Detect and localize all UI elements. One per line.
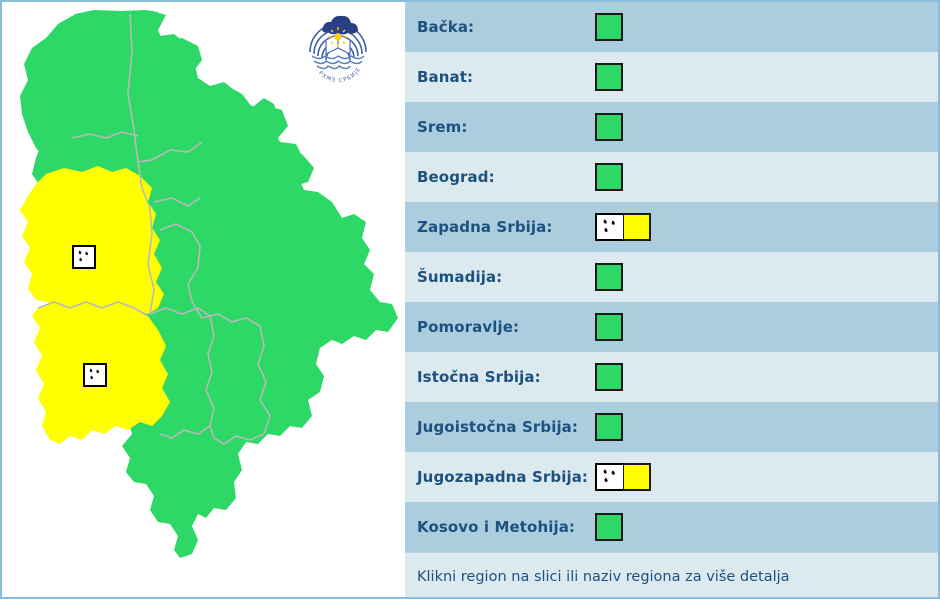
region-row-banat[interactable]: Banat: <box>405 52 938 102</box>
status-swatch-green <box>595 413 623 441</box>
region-label[interactable]: Istočna Srbija: <box>417 368 595 386</box>
rain-drops-icon <box>85 365 105 385</box>
region-status-badges <box>595 313 623 341</box>
region-status-badges <box>595 63 623 91</box>
status-swatch-green <box>595 63 623 91</box>
region-label[interactable]: Zapadna Srbija: <box>417 218 595 236</box>
map-icon-zapadna-srbija[interactable] <box>72 245 96 269</box>
status-swatch-green <box>595 363 623 391</box>
region-status-badges <box>595 213 651 241</box>
region-row-srem[interactable]: Srem: <box>405 102 938 152</box>
map-icon-jugozapadna-srbija[interactable] <box>83 363 107 387</box>
region-row-jugozapadna-srbija[interactable]: Jugozapadna Srbija: <box>405 452 938 502</box>
region-label[interactable]: Pomoravlje: <box>417 318 595 336</box>
status-swatch-green <box>595 513 623 541</box>
rain-drops-icon <box>74 247 94 267</box>
region-row-beograd[interactable]: Beograd: <box>405 152 938 202</box>
region-label[interactable]: Bačka: <box>417 18 595 36</box>
serbia-map[interactable] <box>2 2 403 597</box>
region-row-kosovo-i-metohija[interactable]: Kosovo i Metohija: <box>405 502 938 552</box>
region-status-badges <box>595 463 651 491</box>
region-status-badges <box>595 163 623 191</box>
region-label[interactable]: Beograd: <box>417 168 595 186</box>
rain-drops-icon <box>595 213 623 241</box>
status-swatch-green <box>595 13 623 41</box>
status-swatch-green <box>595 263 623 291</box>
region-row-pomoravlje[interactable]: Pomoravlje: <box>405 302 938 352</box>
region-row-jugoistocna-srbija[interactable]: Jugoistočna Srbija: <box>405 402 938 452</box>
weather-warning-page: РХМЗ СРБИЈЕ <box>0 0 940 599</box>
footer-hint-text: Klikni region na slici ili naziv regiona… <box>417 569 790 585</box>
region-label[interactable]: Banat: <box>417 68 595 86</box>
status-swatch-yellow <box>623 213 651 241</box>
region-status-badges <box>595 413 623 441</box>
status-swatch-yellow <box>623 463 651 491</box>
status-swatch-green <box>595 313 623 341</box>
region-status-badges <box>595 363 623 391</box>
region-label[interactable]: Kosovo i Metohija: <box>417 518 595 536</box>
region-row-sumadija[interactable]: Šumadija: <box>405 252 938 302</box>
map-panel: РХМЗ СРБИЈЕ <box>0 0 405 599</box>
region-label[interactable]: Jugoistočna Srbija: <box>417 418 595 436</box>
rain-drops-icon <box>595 463 623 491</box>
region-label[interactable]: Srem: <box>417 118 595 136</box>
status-swatch-green <box>595 113 623 141</box>
region-status-badges <box>595 13 623 41</box>
footer-hint-row: Klikni region na slici ili naziv regiona… <box>405 552 938 597</box>
region-legend-panel: Bačka: Banat: Srem: Beograd: Zapadna Srb <box>405 0 940 599</box>
region-row-backa[interactable]: Bačka: <box>405 2 938 52</box>
region-status-badges <box>595 513 623 541</box>
region-label[interactable]: Šumadija: <box>417 268 595 286</box>
region-status-badges <box>595 113 623 141</box>
region-status-badges <box>595 263 623 291</box>
region-label[interactable]: Jugozapadna Srbija: <box>417 468 595 486</box>
region-row-istocna-srbija[interactable]: Istočna Srbija: <box>405 352 938 402</box>
status-swatch-green <box>595 163 623 191</box>
region-row-zapadna-srbija[interactable]: Zapadna Srbija: <box>405 202 938 252</box>
rhmz-serbia-logo: РХМЗ СРБИЈЕ <box>302 10 374 82</box>
